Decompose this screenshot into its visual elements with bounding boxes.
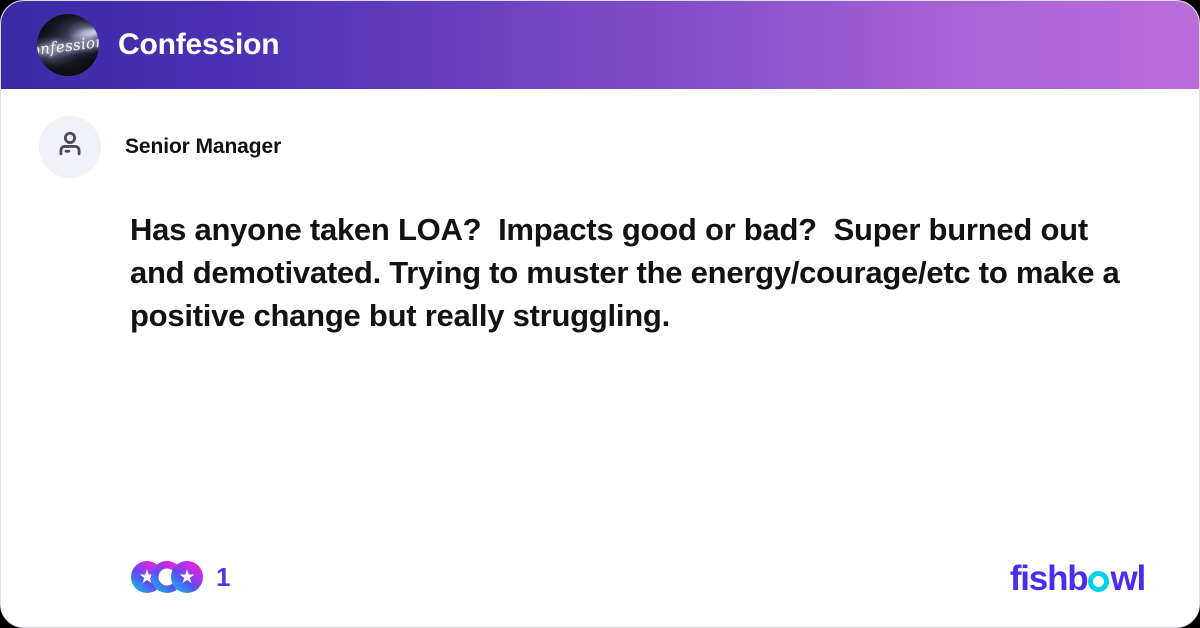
card-header: onfession Confession bbox=[1, 1, 1200, 89]
reaction-count: 1 bbox=[216, 564, 230, 590]
screenshot-stage: onfession Confession Senior Manager bbox=[0, 0, 1200, 628]
card-footer: ★ ★ 1 fishb wl bbox=[1, 539, 1200, 628]
person-icon bbox=[53, 128, 87, 167]
card-body: Senior Manager Has anyone taken LOA? Imp… bbox=[1, 89, 1200, 628]
confession-post-card: onfession Confession Senior Manager bbox=[0, 0, 1200, 628]
reactions-group[interactable]: ★ ★ 1 bbox=[131, 561, 230, 593]
avatar[interactable] bbox=[39, 116, 101, 178]
post-body-text: Has anyone taken LOA? Impacts good or ba… bbox=[130, 208, 1140, 337]
reaction-badge-stack[interactable]: ★ ★ bbox=[131, 561, 203, 593]
avatar-neon-text: onfession bbox=[37, 33, 99, 60]
brand-text-part2: wl bbox=[1110, 561, 1145, 596]
star-reaction-icon-2[interactable]: ★ bbox=[171, 561, 203, 593]
confession-bowl-avatar[interactable]: onfession bbox=[37, 14, 99, 76]
star-glyph-2: ★ bbox=[178, 568, 195, 587]
brand-text-part1: fishb bbox=[1010, 561, 1088, 596]
fishbowl-logo: fishb wl bbox=[1010, 561, 1145, 596]
author-name: Senior Manager bbox=[125, 135, 281, 159]
brand-o-ring-icon bbox=[1088, 571, 1109, 592]
author-row: Senior Manager bbox=[39, 116, 281, 178]
bowl-title: Confession bbox=[118, 30, 279, 60]
